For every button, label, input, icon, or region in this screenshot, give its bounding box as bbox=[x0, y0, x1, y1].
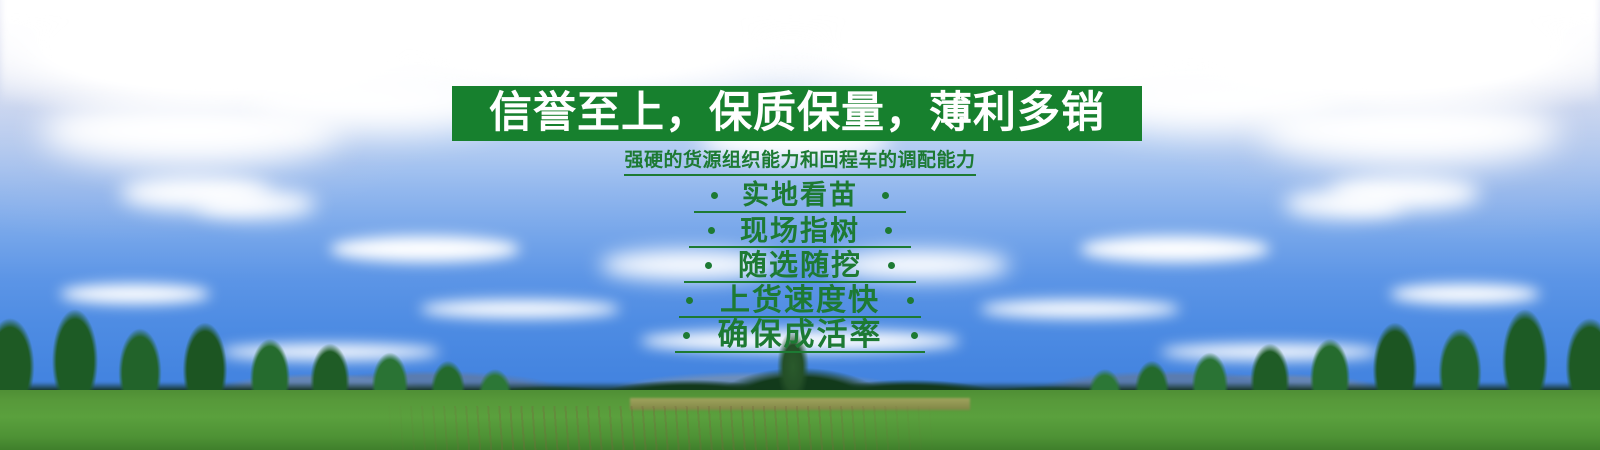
headline-band: 信誉至上，保质保量，薄利多销 bbox=[452, 86, 1142, 141]
feature-label: 现场指树 bbox=[740, 217, 860, 245]
bullet-dot-left-icon bbox=[686, 297, 693, 304]
feature-list: 实地看苗 现场指树 随选随挖 上货速度快 确保成活率 bbox=[0, 178, 1600, 353]
subtitle-text: 强硬的货源组织能力和回程车的调配能力 bbox=[624, 145, 975, 176]
bullet-dot-left-icon bbox=[708, 227, 715, 234]
bullet-dot-right-icon bbox=[888, 262, 895, 269]
feature-label: 上货速度快 bbox=[720, 286, 880, 316]
feature-row: 现场指树 bbox=[0, 213, 1600, 248]
bullet-dot-right-icon bbox=[885, 227, 892, 234]
headline-text: 信誉至上，保质保量，薄利多销 bbox=[489, 92, 1105, 135]
feature-label: 随选随挖 bbox=[738, 251, 862, 280]
bullet-dot-left-icon bbox=[711, 192, 718, 199]
feature-row: 实地看苗 bbox=[0, 178, 1600, 213]
bullet-dot-left-icon bbox=[705, 262, 712, 269]
feature-row: 上货速度快 bbox=[0, 283, 1600, 318]
bullet-dot-right-icon bbox=[907, 297, 914, 304]
promo-banner: 信誉至上，保质保量，薄利多销 强硬的货源组织能力和回程车的调配能力 实地看苗 现… bbox=[0, 0, 1600, 450]
feature-divider bbox=[675, 351, 925, 353]
subtitle: 强硬的货源组织能力和回程车的调配能力 bbox=[0, 145, 1600, 176]
field-furrows bbox=[380, 406, 940, 450]
feature-row: 随选随挖 bbox=[0, 248, 1600, 283]
bullet-dot-right-icon bbox=[882, 192, 889, 199]
feature-row: 确保成活率 bbox=[0, 318, 1600, 353]
bullet-dot-left-icon bbox=[683, 332, 690, 339]
feature-label: 确保成活率 bbox=[718, 320, 883, 351]
feature-label: 实地看苗 bbox=[742, 182, 858, 209]
bullet-dot-right-icon bbox=[911, 332, 918, 339]
